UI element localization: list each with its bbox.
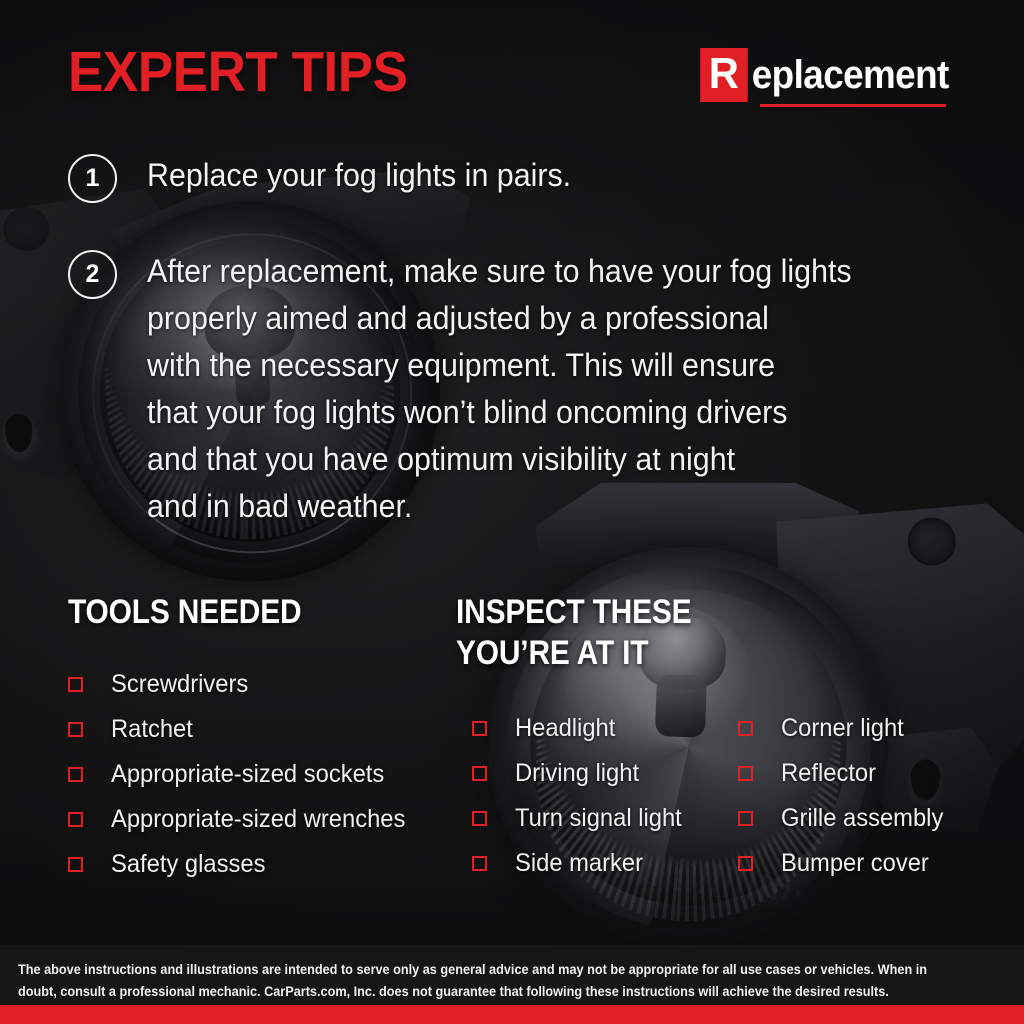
list-item-label: Reflector: [781, 761, 876, 786]
list-item[interactable]: Corner light: [738, 706, 952, 751]
logo-row: R eplacement: [699, 48, 966, 102]
checkbox-icon[interactable]: [472, 856, 487, 871]
checkbox-icon[interactable]: [738, 721, 753, 736]
inspect-list-column-b: Corner light Reflector Grille assembly B…: [738, 706, 952, 886]
checkbox-icon[interactable]: [738, 766, 753, 781]
tools-needed-list: Screwdrivers Ratchet Appropriate-sized s…: [68, 662, 421, 887]
list-item[interactable]: Side marker: [472, 841, 691, 886]
footer-disclaimer-band: The above instructions and illustrations…: [0, 945, 1024, 1005]
bottom-accent-bar: [0, 1005, 1024, 1024]
checkbox-icon[interactable]: [472, 766, 487, 781]
logo-wordmark: eplacement: [749, 53, 949, 97]
tip-item-2: 2 After replacement, make sure to have y…: [68, 248, 889, 530]
logo-initial-badge: R: [700, 48, 747, 102]
checkbox-icon[interactable]: [472, 811, 487, 826]
list-item[interactable]: Appropriate-sized wrenches: [68, 797, 421, 842]
list-item-label: Grille assembly: [781, 806, 943, 831]
list-item-label: Corner light: [781, 716, 904, 741]
checkbox-icon[interactable]: [738, 856, 753, 871]
footer-disclaimer-text: The above instructions and illustrations…: [18, 959, 947, 1003]
list-item-label: Driving light: [515, 761, 639, 786]
checkbox-icon[interactable]: [68, 857, 83, 872]
checkbox-icon[interactable]: [472, 721, 487, 736]
page-title: EXPERT TIPS: [68, 44, 408, 101]
list-item[interactable]: Bumper cover: [738, 841, 952, 886]
checkbox-icon[interactable]: [738, 811, 753, 826]
list-item[interactable]: Screwdrivers: [68, 662, 421, 707]
tip-item-1: 1 Replace your fog lights in pairs.: [68, 152, 593, 203]
logo-underline-rule: [760, 104, 946, 107]
section-heading-inspect-these: INSPECT THESE YOU’RE AT IT: [456, 592, 691, 674]
list-item[interactable]: Grille assembly: [738, 796, 952, 841]
expert-tips-infographic: EXPERT TIPS R eplacement 1 Replace your …: [0, 0, 1024, 1024]
replacement-brand-logo: R eplacement: [699, 48, 966, 107]
tip-text-2: After replacement, make sure to have you…: [147, 248, 852, 530]
checkbox-icon[interactable]: [68, 812, 83, 827]
list-item[interactable]: Headlight: [472, 706, 691, 751]
list-item[interactable]: Turn signal light: [472, 796, 691, 841]
tip-text-1: Replace your fog lights in pairs.: [147, 152, 571, 199]
list-item-label: Bumper cover: [781, 851, 929, 876]
list-item[interactable]: Driving light: [472, 751, 691, 796]
checkbox-icon[interactable]: [68, 767, 83, 782]
checkbox-icon[interactable]: [68, 677, 83, 692]
section-heading-tools-needed: TOOLS NEEDED: [68, 592, 301, 633]
list-item-label: Headlight: [515, 716, 615, 741]
list-item[interactable]: Reflector: [738, 751, 952, 796]
list-item-label: Appropriate-sized sockets: [111, 762, 384, 787]
list-item-label: Side marker: [515, 851, 643, 876]
list-item-label: Screwdrivers: [111, 672, 248, 697]
list-item[interactable]: Safety glasses: [68, 842, 421, 887]
list-item-label: Safety glasses: [111, 852, 265, 877]
list-item[interactable]: Ratchet: [68, 707, 421, 752]
list-item-label: Appropriate-sized wrenches: [111, 807, 405, 832]
tip-number-badge-2: 2: [68, 250, 117, 299]
list-item[interactable]: Appropriate-sized sockets: [68, 752, 421, 797]
list-item-label: Ratchet: [111, 717, 193, 742]
list-item-label: Turn signal light: [515, 806, 682, 831]
tip-number-badge-1: 1: [68, 154, 117, 203]
inspect-list-column-a: Headlight Driving light Turn signal ligh…: [472, 706, 691, 886]
checkbox-icon[interactable]: [68, 722, 83, 737]
content-layer: EXPERT TIPS R eplacement 1 Replace your …: [0, 0, 1024, 1024]
